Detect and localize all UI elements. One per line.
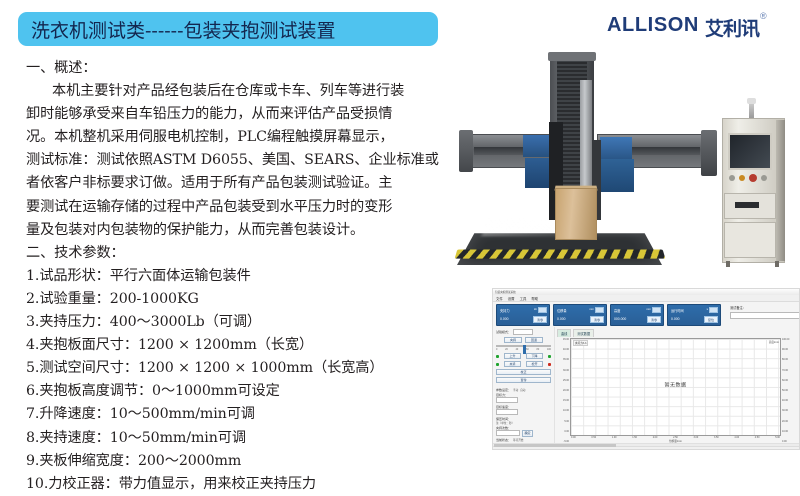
retract-button[interactable]: 回退 [525, 337, 543, 344]
page-title: 洗衣机测试类------包装夹抱测试装置 [31, 16, 336, 43]
horizontal-scrollbar[interactable] [493, 443, 799, 446]
gauge-elapsed-time: 运行时间 s 0.000 复位 [667, 304, 721, 326]
status-dot-icon [496, 363, 499, 366]
y-tick-right: 100.00 [782, 338, 789, 341]
chart-legend: 夹持力/Lb [573, 340, 588, 346]
beam-end-cap-left [459, 130, 473, 172]
y-tick-left: 35.00 [563, 358, 569, 361]
menu-item-help[interactable]: 帮助 [531, 296, 538, 301]
current-status-label: 当前状态： [496, 438, 511, 442]
gauge-panel-row: 夹持力 Lb 0.000 清零 位移量 mm 0.000 清零 高度 mm 00… [493, 302, 724, 327]
y-tick-right: 70.00 [782, 369, 788, 372]
field-hold-time: 保压时间： 注（单位：秒） [496, 417, 551, 425]
field-target-speed: 目标速度： [496, 405, 551, 415]
y-axis-left-ticks: 45.00 40.00 35.00 30.00 25.00 20.00 15.0… [557, 338, 570, 443]
zero-button[interactable]: 置零 [496, 377, 551, 383]
confirm-button[interactable]: 确定 [522, 430, 533, 437]
cabinet-emergency-stop-icon [749, 174, 757, 182]
y-tick-left: 25.00 [563, 379, 569, 382]
field-hint: 注（单位：秒） [496, 421, 551, 425]
field-clamp-count: 夹持次数： 确定 [496, 426, 551, 437]
y-tick-right: 40.00 [782, 399, 788, 402]
clamp-count-select[interactable] [496, 430, 520, 436]
gauge-unit: mm [646, 307, 651, 311]
overview-line: 况。本机整机采用伺服电机控制，PLC编程触摸屏幕显示， [26, 126, 466, 149]
slider-tick: 40 [516, 348, 519, 351]
spec-item: 5.测试空间尺寸：1200 × 1200 × 1000mm（长宽高） [26, 357, 466, 380]
gauge-label: 位移量 [557, 308, 567, 313]
y-axis-right-caption: 高度/mm [769, 340, 779, 344]
page-title-banner: 洗衣机测试类------包装夹抱测试装置 [18, 12, 438, 46]
clamp-open-button[interactable]: 松开 [526, 361, 543, 368]
gauge-value: 0.000 [557, 317, 566, 321]
slider-handle[interactable] [523, 345, 526, 354]
overview-line: 卸时能够承受来自车铅压力的能力，从而来评估产品受损情 [26, 103, 466, 126]
clamp-plate-right-lower [600, 159, 634, 192]
beam-end-cap-right [701, 130, 717, 176]
overview-line: 测试标准：测试依照ASTM D6055、美国、SEARS、企业标准或 [26, 149, 466, 172]
field-label: 目标力： [496, 393, 551, 397]
status-dot-icon [496, 355, 499, 358]
gauge-indicator-box [538, 307, 547, 313]
y-tick-left: 10.00 [563, 409, 569, 412]
tab-test-data[interactable]: 测试数据 [573, 329, 594, 337]
jog-row-clamp: 夹紧 松开 [496, 361, 551, 368]
test-mode-value[interactable] [513, 329, 533, 335]
y-axis-right-ticks: 100.00 90.00 80.00 70.00 60.00 50.00 40.… [781, 338, 797, 443]
gauge-indicator-box [595, 307, 604, 313]
parameter-tab-manual[interactable]: 手动 [513, 388, 518, 392]
overview-heading: 一、概述： [26, 57, 466, 80]
cabinet-amber-lamp-icon [739, 175, 745, 181]
gauge-indicator-box [652, 307, 661, 313]
gauge-reset-button[interactable]: 复位 [704, 316, 718, 323]
field-label: 目标速度： [496, 405, 551, 409]
software-menu-bar[interactable]: 文件 设置 工具 帮助 [493, 295, 799, 302]
chart-empty-annotation: 暂无数据 [664, 382, 686, 389]
gauge-clamp-force: 夹持力 Lb 0.000 清零 [496, 304, 550, 326]
y-tick-left: 15.00 [563, 399, 569, 402]
test-mode-label: 试验模式： [496, 330, 511, 334]
specimen-carton [555, 188, 597, 240]
software-window-title: 包装夹抱测试系统 [495, 290, 516, 294]
overview-line: 量及包装对内包装物的保护能力，从而完善包装设计。 [26, 219, 466, 242]
chart-plot-wrapper: 45.00 40.00 35.00 30.00 25.00 20.00 15.0… [557, 338, 797, 443]
current-status-value: 等待开始 [513, 438, 523, 442]
gauge-unit: s [707, 307, 708, 311]
cabinet-foot [775, 261, 779, 267]
gauge-zero-button[interactable]: 清零 [533, 316, 547, 323]
test-note-label: 测试备注： [730, 305, 800, 310]
cabinet-button-row [729, 174, 773, 182]
gauge-displacement: 位移量 mm 0.000 清零 [553, 304, 607, 326]
spec-item: 6.夹抱板高度调节：0～1000mm可设定 [26, 380, 466, 403]
y-tick-right: 80.00 [782, 358, 788, 361]
y-tick-left: 0.00 [564, 430, 569, 433]
spec-item: 9.夹板伸缩宽度：200～2000mm [26, 450, 466, 473]
parameter-header-label: 参数设定： [496, 388, 511, 392]
gauge-zero-button[interactable]: 清零 [590, 316, 604, 323]
plot-column: 夹持力/Lb 暂无数据 高度/mm 0.00 0.50 1.00 1.50 2.… [570, 338, 781, 443]
field-input[interactable] [496, 397, 518, 403]
current-status-row: 当前状态： 等待开始 [496, 438, 551, 442]
menu-item-settings[interactable]: 设置 [508, 296, 515, 301]
scrollbar-thumb[interactable] [494, 444, 616, 447]
parameter-header-row: 参数设定： 手动 自动 [496, 388, 551, 392]
gauge-label: 运行时间 [671, 308, 684, 313]
spec-item: 1.试品形状：平行六面体运输包装件 [26, 265, 466, 288]
gauge-value: 0.000 [671, 317, 680, 321]
calibrate-button[interactable]: 校正 [496, 369, 551, 375]
spec-item: 8.夹持速度：10～50mm/min可调 [26, 427, 466, 450]
y-tick-right: 10.00 [782, 430, 788, 433]
cabinet-foot [726, 261, 730, 267]
cabinet-signal-tower-cap [747, 98, 756, 104]
gauge-label: 高度 [614, 308, 620, 313]
slider-tick: 80 [536, 348, 539, 351]
gauge-zero-button[interactable]: 清零 [647, 316, 661, 323]
y-tick-left: 5.00 [564, 420, 569, 423]
y-tick-right: 60.00 [782, 379, 788, 382]
force-slider[interactable] [496, 345, 551, 347]
gauge-unit: mm [589, 307, 594, 311]
y-tick-left: 20.00 [563, 389, 569, 392]
move-up-button[interactable]: 上升 [504, 353, 521, 360]
menu-item-file[interactable]: 文件 [496, 296, 503, 301]
overview-line: 要测试在运输存储的过程中产品包装受到水平压力时的变形 [26, 196, 466, 219]
clamp-close-button[interactable]: 夹紧 [504, 361, 521, 368]
spec-item: 3.夹持压力：400～3000Lb（可调） [26, 311, 466, 334]
test-note-input[interactable] [730, 312, 800, 319]
y-tick-left: 45.00 [563, 338, 569, 341]
y-tick-right: 90.00 [782, 348, 788, 351]
cabinet-side-panel [776, 120, 785, 261]
gauge-unit: Lb [534, 307, 537, 311]
spec-item: 4.夹抱板面尺寸：1200 × 1200mm（长宽） [26, 334, 466, 357]
cabinet-indicator-icon [729, 175, 735, 181]
cabinet-signal-tower [749, 102, 754, 118]
gauge-height: 高度 mm 000.000 清零 [610, 304, 664, 326]
menu-item-tools[interactable]: 工具 [520, 296, 527, 301]
gauge-indicator-box [709, 307, 718, 313]
brand-logo-cjk: 艾利讯 [705, 14, 759, 41]
jog-row-vertical: 上升 下降 [496, 353, 551, 360]
y-tick-left: 30.00 [563, 369, 569, 372]
hazard-stripe-edge [455, 249, 666, 258]
mode-button-row: 夹持 回退 [496, 337, 551, 344]
field-input[interactable] [496, 409, 518, 415]
mast-top-cap [548, 52, 596, 61]
slider-tick: 60 [526, 348, 529, 351]
test-note-group: 测试备注： [730, 302, 800, 319]
test-mode-row: 试验模式： [496, 329, 551, 335]
gauge-value: 000.000 [614, 317, 626, 321]
cabinet-vent-slot [735, 202, 759, 208]
slider-tick: 100 [547, 348, 551, 351]
registered-trademark-icon: ® [760, 11, 767, 21]
y-tick-right: 30.00 [782, 409, 788, 412]
tab-curve[interactable]: 曲线 [557, 329, 571, 337]
cabinet-indicator-icon [761, 175, 767, 181]
control-side-panel: 试验模式： 夹持 回退 0 20 40 60 80 100 上升 下降 [493, 327, 555, 443]
brand-logo-latin: ALLISON [607, 14, 699, 37]
software-screenshot: 包装夹抱测试系统 文件 设置 工具 帮助 夹持力 Lb 0.000 清零 位移量… [492, 288, 800, 450]
y-tick-right: 50.00 [782, 389, 788, 392]
y-tick-right: 20.00 [782, 420, 788, 423]
status-dot-icon [548, 355, 551, 358]
chart-tab-bar: 曲线 测试数据 [557, 329, 797, 337]
software-main-body: 试验模式： 夹持 回退 0 20 40 60 80 100 上升 下降 [493, 327, 799, 443]
move-down-button[interactable]: 下降 [526, 353, 543, 360]
overview-line: 本机主要针对产品经包装后在仓库或卡车、列车等进行装 [26, 80, 466, 103]
content-text-block: 一、概述： 本机主要针对产品经包装后在仓库或卡车、列车等进行装 卸时能够承受来自… [26, 57, 466, 496]
gauge-label: 夹持力 [500, 308, 510, 313]
overview-line: 者依客户非标要求订做。适用于所有产品包装测试验证。主 [26, 172, 466, 195]
field-target-force: 目标力： [496, 393, 551, 403]
spec-item: 2.试验重量：200-1000KG [26, 288, 466, 311]
machine-photo [445, 50, 800, 290]
slider-tick: 20 [505, 348, 508, 351]
spec-item: 10.力校正器：带力值显示，用来校正夹持压力 [26, 473, 466, 496]
alarm-dot-icon [548, 363, 551, 366]
clamp-button[interactable]: 夹持 [504, 337, 522, 344]
brand-logo: ALLISON 艾利讯 ® [607, 14, 767, 41]
gauge-value: 0.000 [500, 317, 509, 321]
chart-area: 曲线 测试数据 45.00 40.00 35.00 30.00 25.00 20… [555, 327, 799, 443]
parameter-tab-auto[interactable]: 自动 [520, 388, 525, 392]
slider-tick: 0 [496, 348, 497, 351]
spec-item: 7.升降速度：10～500mm/min可调 [26, 403, 466, 426]
cabinet-touchscreen [728, 133, 772, 170]
specs-heading: 二、技术参数： [26, 242, 466, 265]
chart-plot[interactable]: 夹持力/Lb 暂无数据 高度/mm [570, 338, 781, 436]
clamp-plate-right-upper [600, 137, 632, 159]
cabinet-lower-panel [724, 222, 776, 258]
y-tick-left: 40.00 [563, 348, 569, 351]
